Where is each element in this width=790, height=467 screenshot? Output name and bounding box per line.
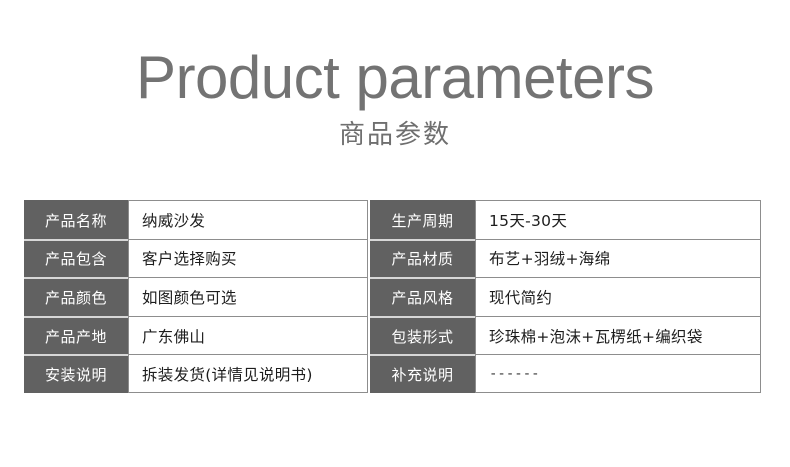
- table-row: 安装说明 拆装发货(详情见说明书) 补充说明 ------: [24, 354, 761, 393]
- spec-label-product-name: 产品名称: [24, 200, 128, 239]
- specification-table: 产品名称 纳威沙发 生产周期 15天-30天 产品包含 客户选择购买 产品材质 …: [24, 200, 761, 393]
- spec-label-product-style: 产品风格: [370, 277, 475, 316]
- table-row: 产品名称 纳威沙发 生产周期 15天-30天: [24, 200, 761, 239]
- spec-value-additional-notes: ------: [475, 354, 761, 393]
- spec-value-product-color: 如图颜色可选: [128, 277, 368, 316]
- table-row: 产品颜色 如图颜色可选 产品风格 现代简约: [24, 277, 761, 316]
- spec-label-product-origin: 产品产地: [24, 316, 128, 355]
- spec-value-product-includes: 客户选择购买: [128, 239, 368, 278]
- spec-label-product-material: 产品材质: [370, 239, 475, 278]
- spec-value-product-name: 纳威沙发: [128, 200, 368, 239]
- spec-label-product-color: 产品颜色: [24, 277, 128, 316]
- spec-label-additional-notes: 补充说明: [370, 354, 475, 393]
- spec-label-packaging-form: 包装形式: [370, 316, 475, 355]
- page-heading: Product parameters 商品参数: [0, 46, 790, 150]
- spec-value-product-material: 布艺+羽绒+海绵: [475, 239, 761, 278]
- spec-value-production-cycle: 15天-30天: [475, 200, 761, 239]
- spec-label-production-cycle: 生产周期: [370, 200, 475, 239]
- specification-table-body: 产品名称 纳威沙发 生产周期 15天-30天 产品包含 客户选择购买 产品材质 …: [24, 200, 761, 393]
- page-title: Product parameters: [0, 46, 790, 110]
- spec-value-packaging-form: 珍珠棉+泡沫+瓦楞纸+编织袋: [475, 316, 761, 355]
- page-subtitle: 商品参数: [0, 120, 790, 150]
- table-row: 产品产地 广东佛山 包装形式 珍珠棉+泡沫+瓦楞纸+编织袋: [24, 316, 761, 355]
- spec-value-product-origin: 广东佛山: [128, 316, 368, 355]
- spec-value-installation-instructions: 拆装发货(详情见说明书): [128, 354, 368, 393]
- spec-label-product-includes: 产品包含: [24, 239, 128, 278]
- table-row: 产品包含 客户选择购买 产品材质 布艺+羽绒+海绵: [24, 239, 761, 278]
- spec-label-installation-instructions: 安装说明: [24, 354, 128, 393]
- product-parameters-page: Product parameters 商品参数 产品名称 纳威沙发 生产周期 1…: [0, 0, 790, 467]
- spec-value-product-style: 现代简约: [475, 277, 761, 316]
